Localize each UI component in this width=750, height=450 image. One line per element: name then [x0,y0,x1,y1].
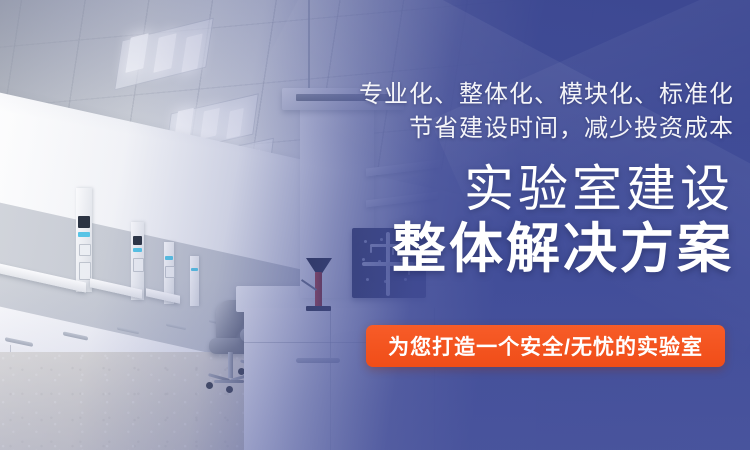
heading-bold: 整体解决方案 [264,218,734,280]
subline-1: 专业化、整体化、模块化、标准化 [264,78,734,112]
lab-solution-banner: 专业化、整体化、模块化、标准化 节省建设时间，减少投资成本 实验室建设 整体解决… [0,0,750,450]
heading-light: 实验室建设 [264,160,734,218]
cta-button[interactable]: 为您打造一个安全/无忧的实验室 [366,325,725,367]
subline-2: 节省建设时间，减少投资成本 [264,112,734,146]
banner-copy: 专业化、整体化、模块化、标准化 节省建设时间，减少投资成本 实验室建设 整体解决… [264,78,734,280]
cta-button-label: 为您打造一个安全/无忧的实验室 [388,331,703,361]
